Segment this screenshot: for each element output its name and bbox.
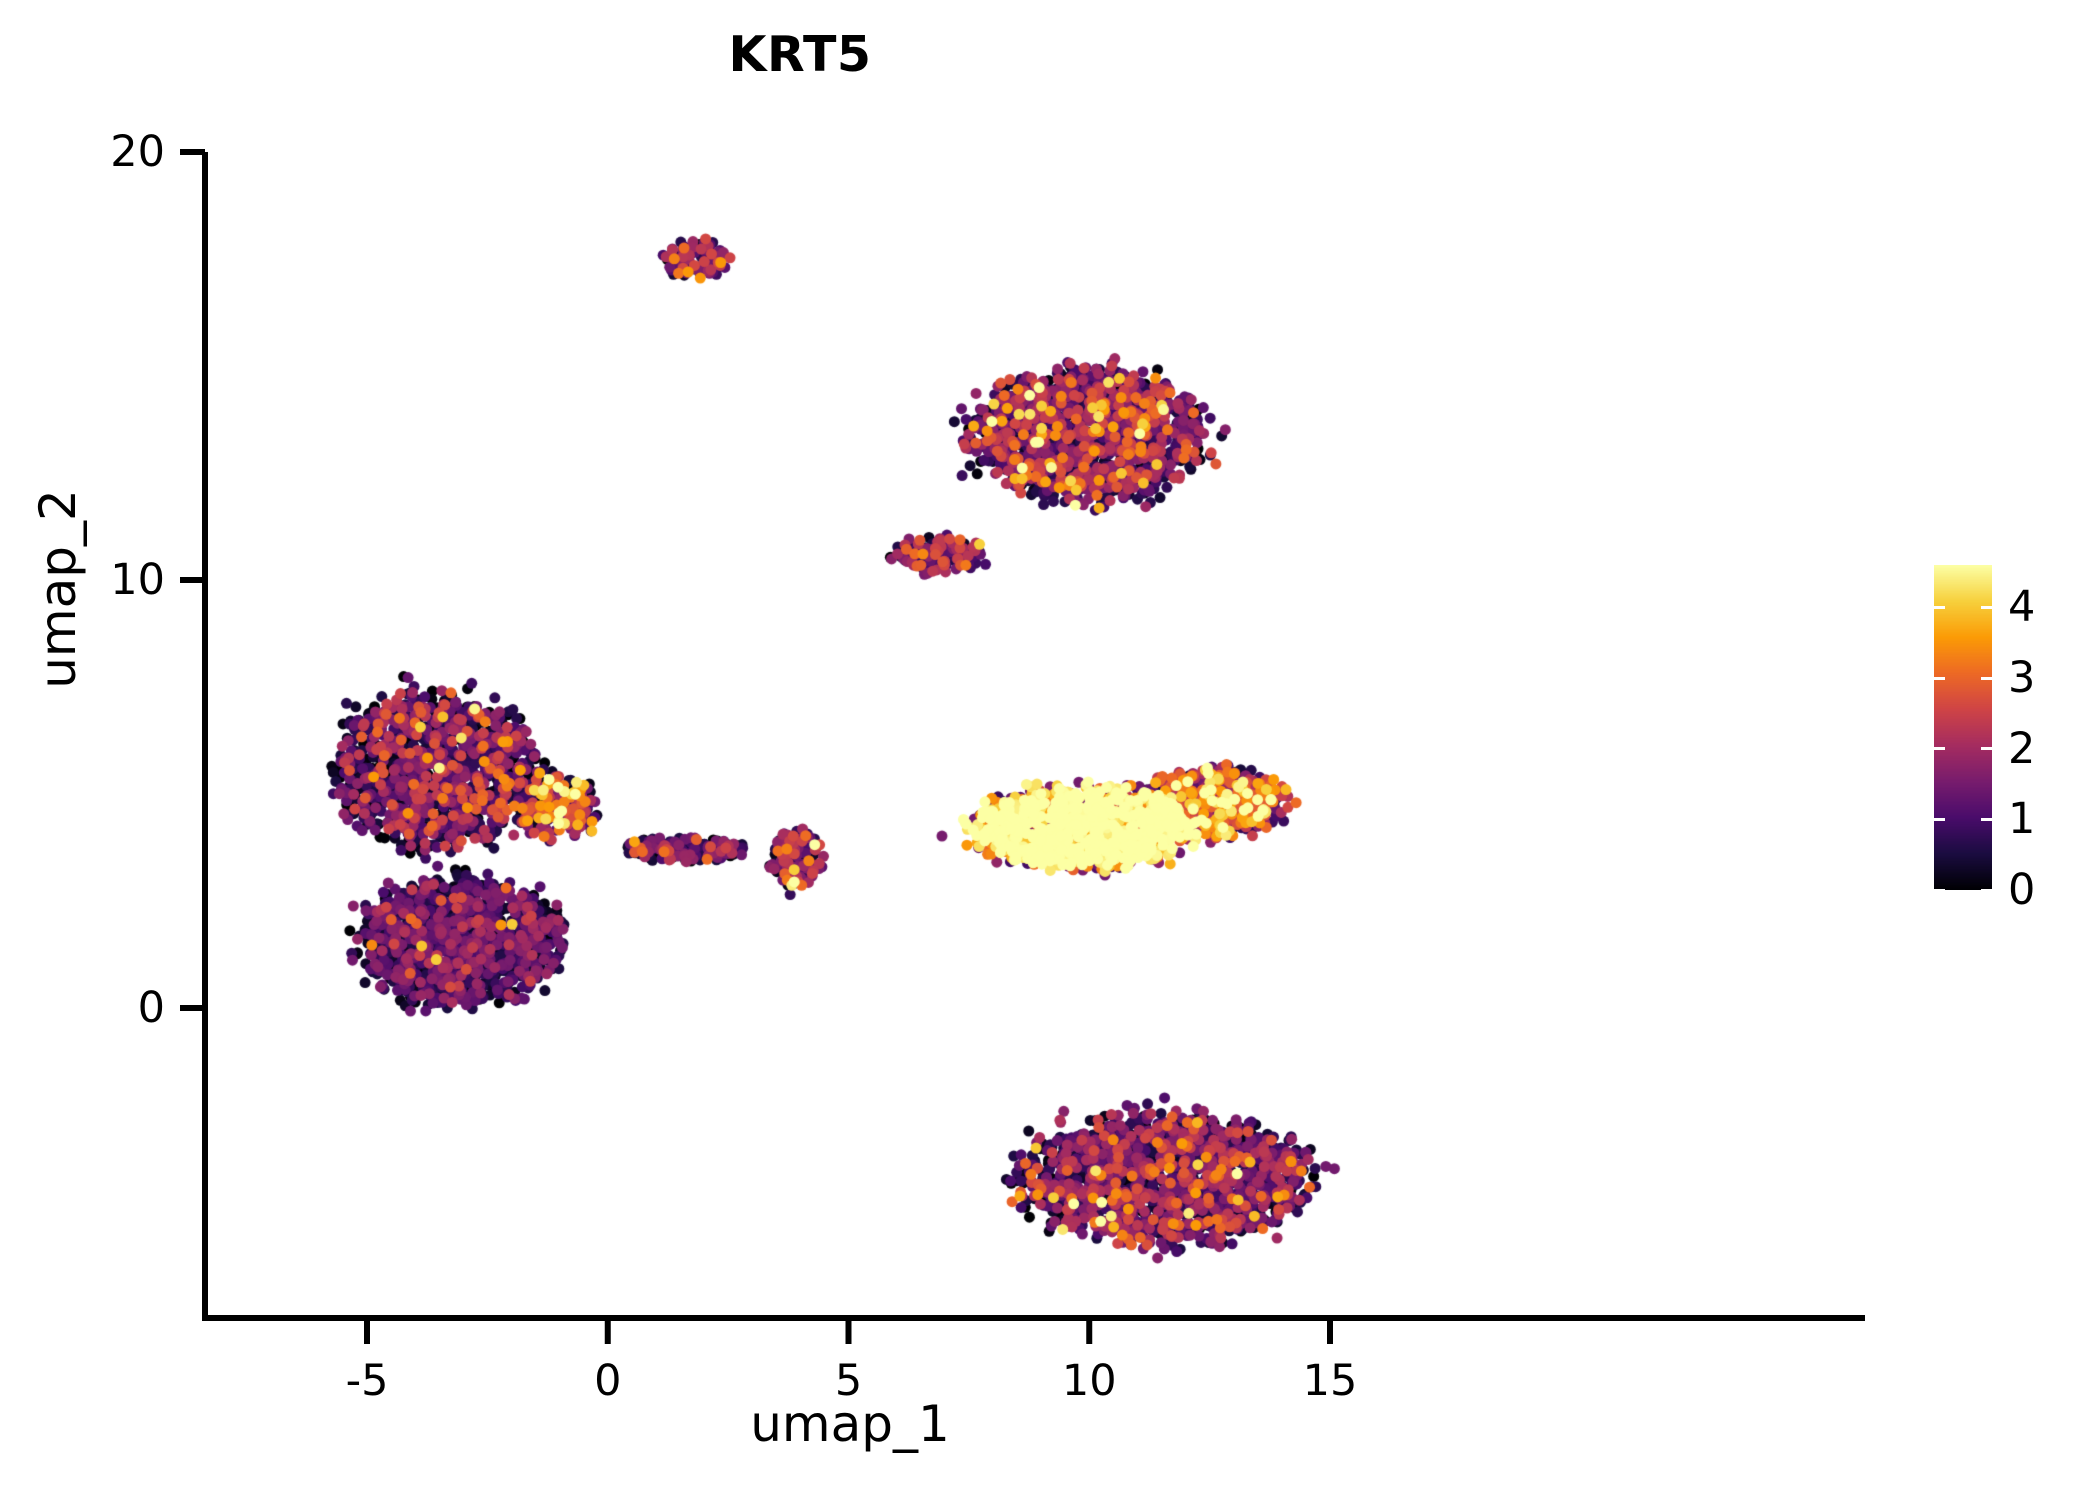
colorbar-tick-mark	[1981, 747, 1992, 750]
colorbar-tick-mark	[1981, 606, 1992, 609]
y-tick-label: 0	[0, 983, 165, 1033]
umap-feature-plot: KRT5 20100 -5051015 umap_2 umap_1 43210	[0, 0, 2100, 1500]
colorbar-gradient	[1934, 565, 1992, 890]
colorbar-tick-mark	[1981, 677, 1992, 680]
x-tick-label: 15	[1303, 1356, 1358, 1406]
colorbar-tick-mark	[1934, 747, 1945, 750]
y-tick-label: 20	[0, 127, 165, 177]
colorbar-tick-label: 1	[2008, 794, 2035, 844]
scatter-plot-canvas	[0, 0, 2100, 1500]
y-axis-label: umap_2	[29, 389, 87, 789]
colorbar-tick-label: 2	[2008, 724, 2035, 774]
colorbar-tick-mark	[1934, 677, 1945, 680]
colorbar-tick-mark	[1981, 889, 1992, 892]
colorbar-tick-label: 3	[2008, 653, 2035, 703]
colorbar-tick-mark	[1934, 818, 1945, 821]
x-axis-label: umap_1	[500, 1395, 1200, 1453]
colorbar-tick-mark	[1934, 606, 1945, 609]
colorbar-tick-label: 0	[2008, 865, 2035, 915]
x-tick-label: -5	[346, 1356, 389, 1406]
colorbar	[1934, 565, 1992, 890]
colorbar-tick-mark	[1934, 889, 1945, 892]
colorbar-tick-label: 4	[2008, 582, 2035, 632]
colorbar-tick-mark	[1981, 818, 1992, 821]
